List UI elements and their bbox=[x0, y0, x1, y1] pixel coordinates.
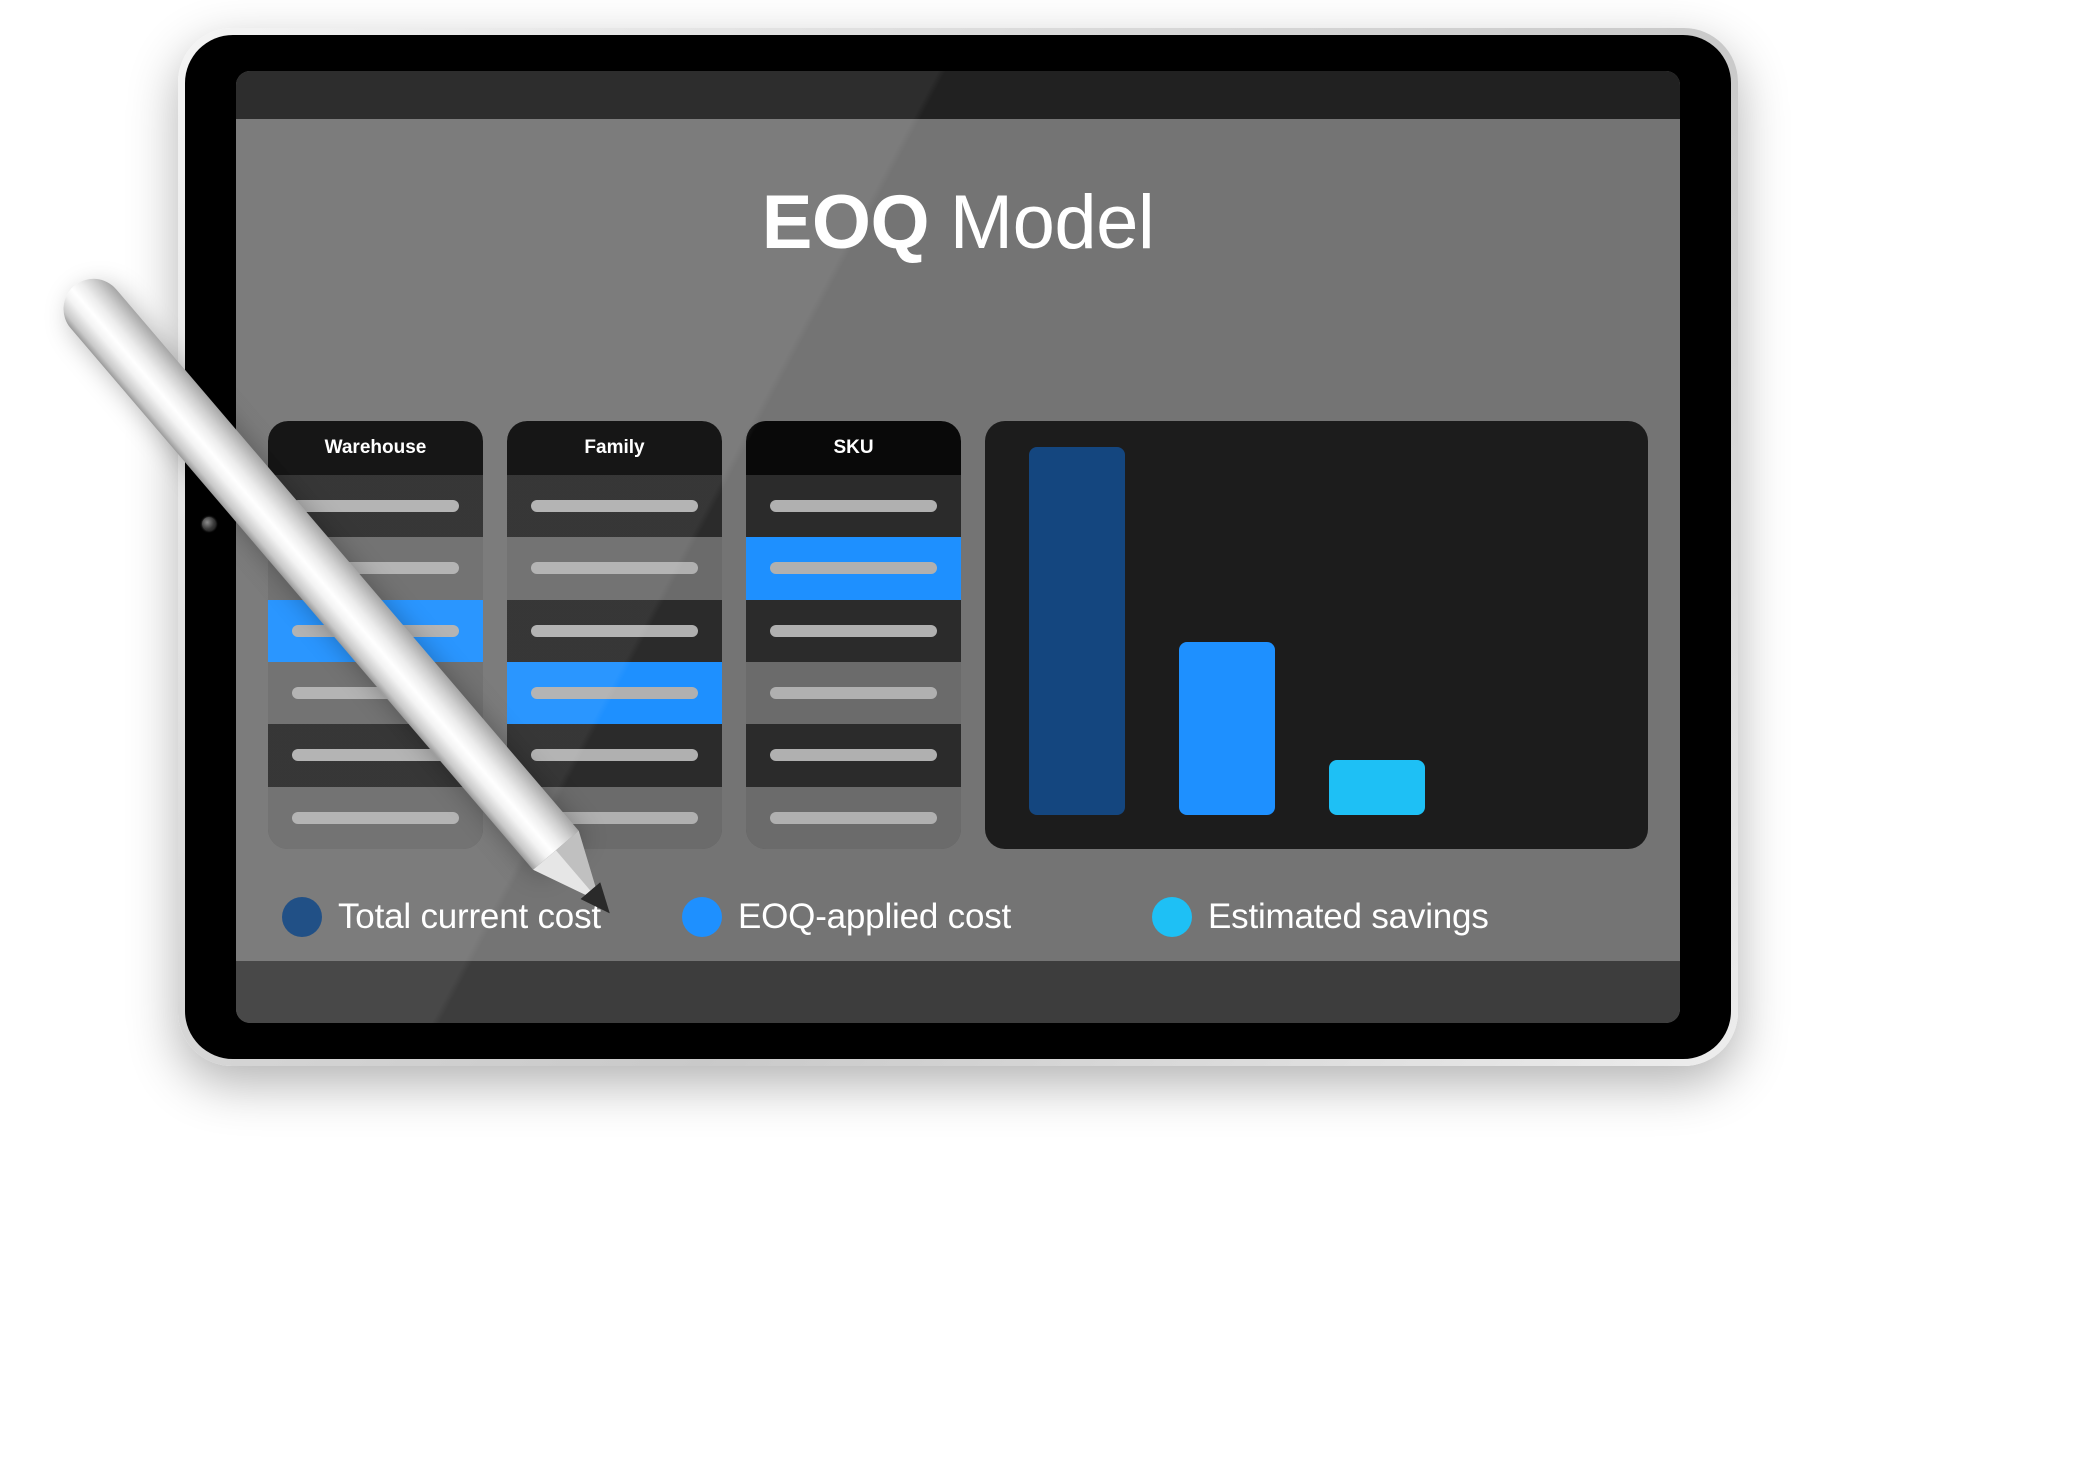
list-item[interactable] bbox=[507, 475, 722, 537]
row-placeholder-bar bbox=[292, 500, 460, 512]
legend-swatch-icon bbox=[282, 897, 322, 937]
row-placeholder-bar bbox=[292, 749, 460, 761]
list-item[interactable] bbox=[268, 537, 483, 599]
row-placeholder-bar bbox=[770, 749, 938, 761]
row-placeholder-bar bbox=[292, 812, 460, 824]
legend-item-eoq-applied-cost[interactable]: EOQ-applied cost bbox=[682, 897, 1152, 937]
row-placeholder-bar bbox=[292, 687, 460, 699]
row-placeholder-bar bbox=[292, 625, 460, 637]
chart-plot-area bbox=[1029, 447, 1604, 815]
card-header-warehouse: Warehouse bbox=[268, 421, 483, 475]
selector-and-chart-row: Warehouse Family bbox=[268, 421, 1648, 849]
row-placeholder-bar bbox=[770, 812, 938, 824]
legend-swatch-icon bbox=[1152, 897, 1192, 937]
list-item[interactable] bbox=[268, 662, 483, 724]
page-title-light-word: Model bbox=[950, 180, 1155, 265]
card-header-sku: SKU bbox=[746, 421, 961, 475]
legend-label: Estimated savings bbox=[1208, 897, 1489, 937]
legend-item-estimated-savings[interactable]: Estimated savings bbox=[1152, 897, 1622, 937]
eoq-model-app: EOQ Model Warehouse bbox=[236, 119, 1680, 961]
card-header-family: Family bbox=[507, 421, 722, 475]
list-item[interactable] bbox=[746, 662, 961, 724]
page-title-light bbox=[929, 180, 950, 265]
list-item[interactable] bbox=[507, 537, 722, 599]
list-item[interactable] bbox=[746, 600, 961, 662]
row-placeholder-bar bbox=[531, 749, 699, 761]
row-placeholder-bar bbox=[531, 812, 699, 824]
app-top-bar bbox=[236, 71, 1680, 119]
row-placeholder-bar bbox=[531, 562, 699, 574]
list-item-selected[interactable] bbox=[268, 600, 483, 662]
row-list-warehouse bbox=[268, 475, 483, 849]
chart-legend: Total current cost EOQ-applied cost Esti… bbox=[268, 887, 1648, 947]
front-camera-icon bbox=[202, 517, 216, 531]
list-item[interactable] bbox=[507, 600, 722, 662]
list-item[interactable] bbox=[268, 787, 483, 849]
cost-comparison-chart[interactable] bbox=[985, 421, 1648, 849]
list-item-selected[interactable] bbox=[746, 537, 961, 599]
bar-estimated-savings[interactable] bbox=[1329, 760, 1425, 815]
row-placeholder-bar bbox=[531, 500, 699, 512]
tablet-bezel: EOQ Model Warehouse bbox=[185, 35, 1731, 1059]
row-placeholder-bar bbox=[531, 625, 699, 637]
row-list-sku bbox=[746, 475, 961, 849]
row-list-family bbox=[507, 475, 722, 849]
row-placeholder-bar bbox=[770, 625, 938, 637]
row-placeholder-bar bbox=[770, 687, 938, 699]
legend-label: Total current cost bbox=[338, 897, 601, 937]
bar-total-current-cost[interactable] bbox=[1029, 447, 1125, 815]
row-placeholder-bar bbox=[531, 687, 699, 699]
legend-label: EOQ-applied cost bbox=[738, 897, 1011, 937]
list-item[interactable] bbox=[746, 787, 961, 849]
list-item[interactable] bbox=[746, 475, 961, 537]
list-item[interactable] bbox=[268, 724, 483, 786]
page-title: EOQ Model bbox=[236, 183, 1680, 263]
row-placeholder-bar bbox=[292, 562, 460, 574]
bar-eoq-applied-cost[interactable] bbox=[1179, 642, 1275, 815]
tablet-screen: EOQ Model Warehouse bbox=[236, 71, 1680, 1023]
list-card-warehouse[interactable]: Warehouse bbox=[268, 421, 483, 849]
page-title-strong: EOQ bbox=[762, 180, 929, 265]
row-placeholder-bar bbox=[770, 562, 938, 574]
list-item[interactable] bbox=[268, 475, 483, 537]
row-placeholder-bar bbox=[770, 500, 938, 512]
list-item[interactable] bbox=[746, 724, 961, 786]
app-bottom-bar bbox=[236, 961, 1680, 1023]
list-card-family[interactable]: Family bbox=[507, 421, 722, 849]
legend-swatch-icon bbox=[682, 897, 722, 937]
list-item-selected[interactable] bbox=[507, 662, 722, 724]
list-item[interactable] bbox=[507, 724, 722, 786]
legend-item-total-current-cost[interactable]: Total current cost bbox=[268, 897, 682, 937]
tablet-device: EOQ Model Warehouse bbox=[178, 28, 1738, 1066]
list-card-sku[interactable]: SKU bbox=[746, 421, 961, 849]
list-item[interactable] bbox=[507, 787, 722, 849]
